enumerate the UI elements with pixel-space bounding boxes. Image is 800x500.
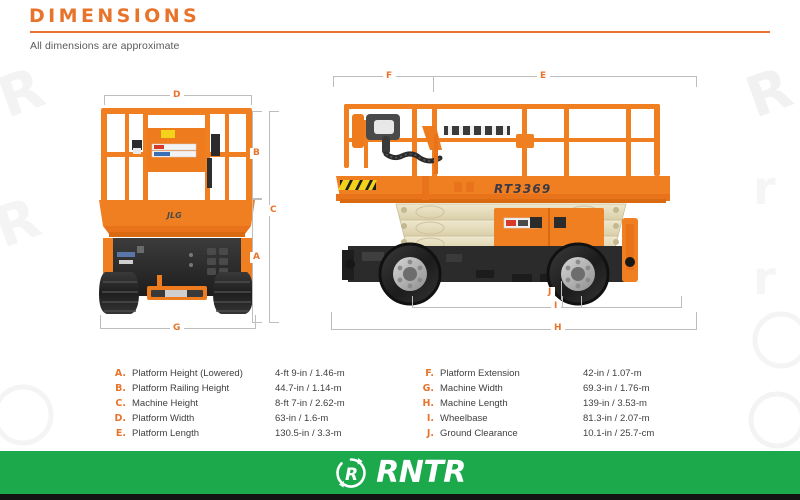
callout-label-a: A [250, 252, 263, 263]
rntr-circular-arrow-icon: R [334, 456, 368, 490]
header-divider [30, 31, 770, 33]
spec-label: Platform Width [132, 413, 194, 424]
callout-label-c: C [267, 205, 280, 216]
spec-letter: D. [112, 413, 126, 424]
svg-text:R: R [742, 55, 800, 125]
spec-value: 81.3-in / 2.07-m [583, 413, 650, 424]
spec-value: 44.7-in / 1.14-m [275, 383, 342, 394]
spec-value: 42-in / 1.07-m [583, 368, 642, 379]
page-subtitle: All dimensions are approximate [30, 40, 180, 52]
spec-label: Platform Railing Height [132, 383, 229, 394]
spec-letter: E. [112, 428, 126, 439]
spec-value: 8-ft 7-in / 2.62-m [275, 398, 345, 409]
watermark-r-icon: R [0, 185, 60, 255]
watermark-circle-icon [746, 305, 800, 375]
watermark-r-icon: r [748, 150, 800, 220]
spec-letter: C. [112, 398, 126, 409]
svg-text:JLG: JLG [165, 211, 182, 220]
watermark-circle-icon [0, 380, 58, 450]
front-elevation-scissor-lift: JLG [95, 100, 260, 330]
callout-label-h: H [551, 323, 565, 334]
model-badge-text: RT3369 [494, 182, 552, 196]
spec-label: Platform Extension [440, 368, 520, 379]
svg-text:r: r [753, 161, 776, 215]
spec-letter: A. [112, 368, 126, 379]
callout-label-g: G [170, 323, 184, 334]
document-page: R R R r r DIMENSIONS All dimensions are … [0, 0, 800, 500]
spec-letter: H. [420, 398, 434, 409]
watermark-r-icon: R [0, 55, 64, 125]
spec-letter: G. [420, 383, 434, 394]
bracket-machine-height [269, 111, 279, 323]
svg-text:R: R [0, 55, 53, 125]
spec-letter: B. [112, 383, 126, 394]
spec-letter: J. [420, 428, 434, 439]
callout-label-i: I [551, 301, 561, 312]
callout-label-e: E [537, 71, 550, 82]
spec-letter: I. [420, 413, 434, 424]
svg-text:R: R [345, 465, 358, 485]
spec-label: Machine Width [440, 383, 503, 394]
bracket-divider-extension [433, 76, 434, 92]
watermark-circle-icon [742, 385, 800, 455]
spec-value: 139-in / 3.53-m [583, 398, 647, 409]
callout-label-b: B [250, 148, 263, 159]
svg-text:r: r [753, 251, 776, 305]
spec-value: 10.1-in / 25.7-cm [583, 428, 654, 439]
spec-value: 63-in / 1.6-m [275, 413, 328, 424]
spec-value: 69.3-in / 1.76-m [583, 383, 650, 394]
brand-logo: R RNTR [0, 451, 800, 494]
callout-label-d: D [170, 90, 184, 101]
spec-label: Machine Height [132, 398, 198, 409]
spec-label: Platform Height (Lowered) [132, 368, 243, 379]
spec-label: Platform Length [132, 428, 199, 439]
spec-label: Ground Clearance [440, 428, 518, 439]
bracket-wheelbase-right [562, 296, 682, 308]
spec-label: Wheelbase [440, 413, 488, 424]
side-elevation-scissor-lift: RT3369 [326, 98, 694, 308]
watermark-r-icon: R [742, 55, 800, 125]
page-title: DIMENSIONS [29, 5, 200, 27]
bracket-machine-length [331, 312, 697, 330]
callout-label-f: F [383, 71, 396, 82]
spec-label: Machine Length [440, 398, 508, 409]
brand-name: RNTR [376, 455, 466, 490]
spec-value: 130.5-in / 3.3-m [275, 428, 342, 439]
spec-value: 4-ft 9-in / 1.46-m [275, 368, 345, 379]
watermark-r-icon: r [748, 240, 800, 310]
svg-text:R: R [0, 185, 49, 255]
spec-letter: F. [420, 368, 434, 379]
footer-bottom-bar [0, 494, 800, 500]
